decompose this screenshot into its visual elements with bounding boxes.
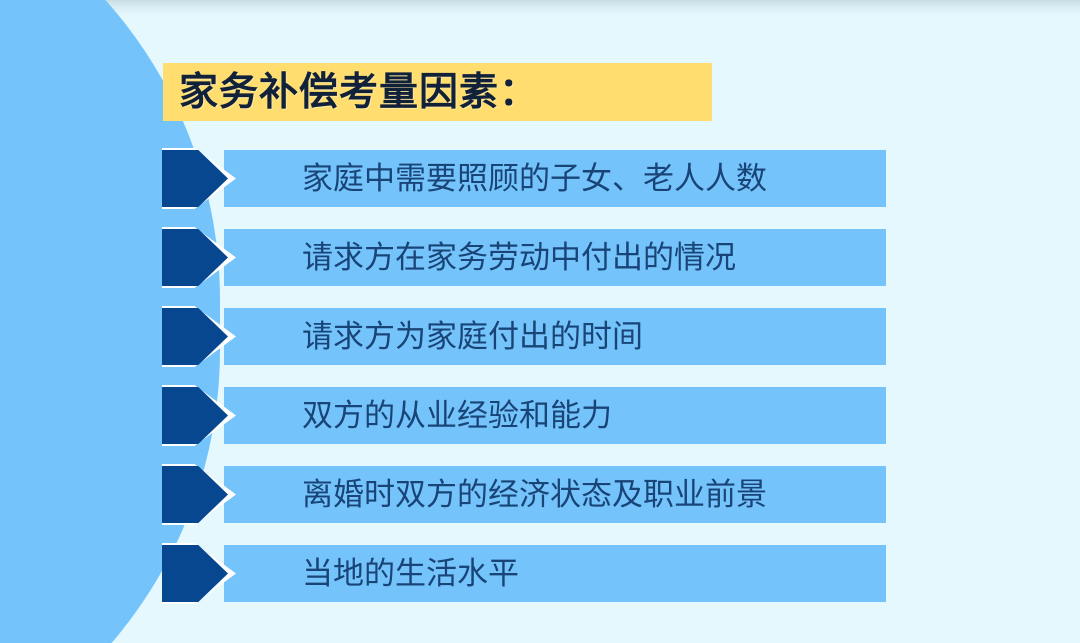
list-item[interactable]: 请求方在家务劳动中付出的情况: [162, 229, 922, 286]
factor-label: 离婚时双方的经济状态及职业前景: [302, 479, 767, 510]
chevron-right-icon: [162, 229, 228, 286]
list-item[interactable]: 请求方为家庭付出的时间: [162, 308, 922, 365]
chevron-right-icon: [162, 150, 228, 207]
factor-label: 双方的从业经验和能力: [302, 400, 612, 431]
factor-bar: 请求方为家庭付出的时间: [224, 308, 886, 365]
factor-bar: 双方的从业经验和能力: [224, 387, 886, 444]
chevron-right-icon: [162, 308, 228, 365]
factor-label: 请求方为家庭付出的时间: [302, 321, 643, 352]
list-item[interactable]: 家庭中需要照顾的子女、老人人数: [162, 150, 922, 207]
factor-label: 家庭中需要照顾的子女、老人人数: [302, 163, 767, 194]
list-item[interactable]: 当地的生活水平: [162, 545, 922, 602]
page-title: 家务补偿考量因素：: [179, 73, 539, 112]
list-item[interactable]: 离婚时双方的经济状态及职业前景: [162, 466, 922, 523]
chevron-right-icon: [162, 387, 228, 444]
factor-list: 家庭中需要照顾的子女、老人人数 请求方在家务劳动中付出的情况 请求方为家庭付出的…: [162, 150, 922, 624]
slide-canvas: 家务补偿考量因素： 家庭中需要照顾的子女、老人人数 请求方在家务劳动中付出的情况…: [0, 0, 1080, 643]
factor-label: 当地的生活水平: [302, 558, 519, 589]
factor-bar: 家庭中需要照顾的子女、老人人数: [224, 150, 886, 207]
top-edge-band: [0, 0, 1080, 16]
factor-bar: 请求方在家务劳动中付出的情况: [224, 229, 886, 286]
factor-bar: 当地的生活水平: [224, 545, 886, 602]
factor-label: 请求方在家务劳动中付出的情况: [302, 242, 736, 273]
chevron-right-icon: [162, 545, 228, 602]
factor-bar: 离婚时双方的经济状态及职业前景: [224, 466, 886, 523]
title-banner: 家务补偿考量因素：: [163, 63, 712, 121]
chevron-right-icon: [162, 466, 228, 523]
list-item[interactable]: 双方的从业经验和能力: [162, 387, 922, 444]
